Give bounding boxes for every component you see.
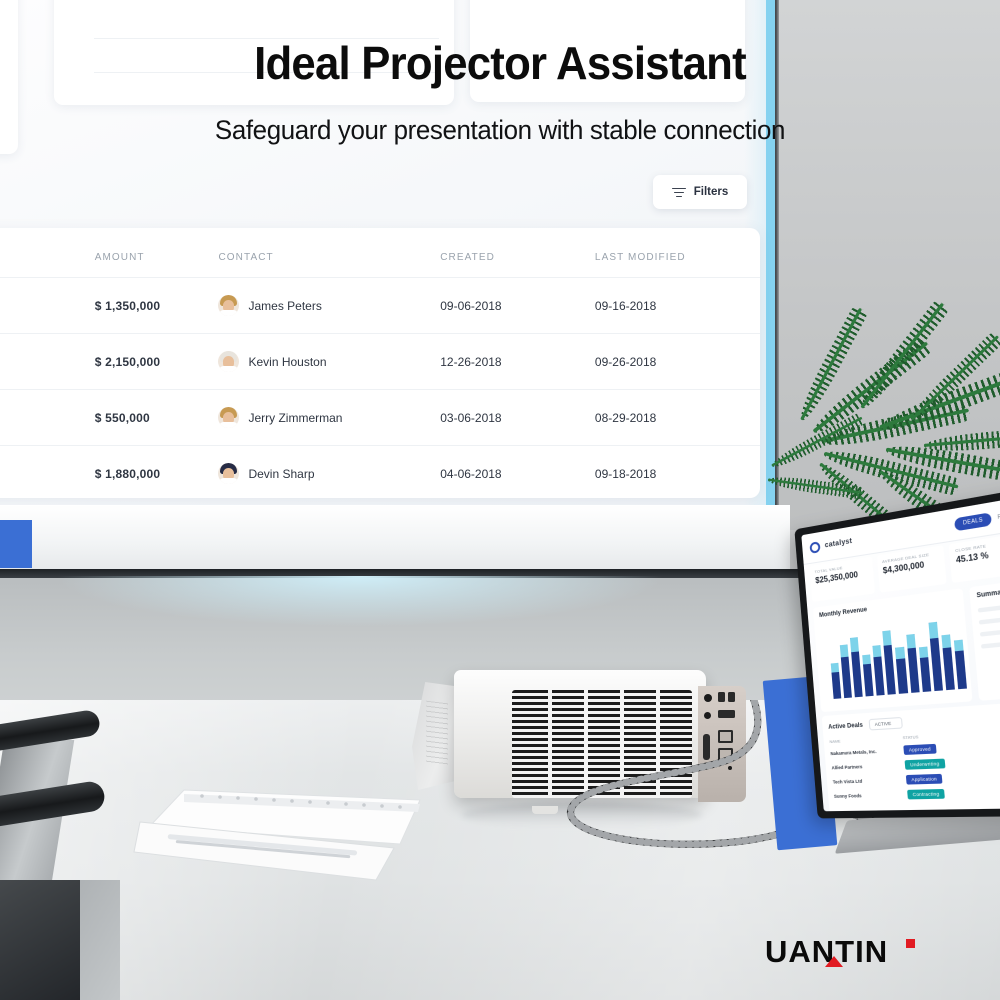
- laptop-summary-title: Summary: [976, 585, 1000, 599]
- cell-amount: $ 2,150,000: [95, 334, 219, 390]
- bar: [831, 663, 842, 699]
- filters-button-label: Filters: [694, 186, 729, 198]
- status-badge: Approved: [903, 744, 936, 755]
- cell-amount: $ 1,350,000: [95, 278, 219, 334]
- bar: [883, 630, 897, 695]
- page-title: Ideal Projector Assistant: [25, 36, 975, 90]
- cell-contact: Kevin Houston: [218, 334, 440, 390]
- avatar: [218, 295, 239, 316]
- bar: [941, 635, 955, 691]
- laptop-lid: catalyst DEALS Reports TOTAL VALUE$25,35…: [794, 487, 1000, 818]
- table-row[interactable]: A 7a$ 1,880,000Devin Sharp04-06-201809-1…: [0, 446, 760, 502]
- projector-side-vent: [426, 701, 448, 766]
- table-header-row: PE AMOUNT CONTACT CREATED LAST MODIFIED: [0, 228, 760, 278]
- projection-shelf: [0, 505, 790, 575]
- column-header-contact[interactable]: CONTACT: [218, 228, 440, 278]
- shelf-blue-accent: [0, 520, 32, 568]
- contact-name: Jerry Zimmerman: [248, 411, 342, 425]
- status-badge: Contracting: [907, 789, 945, 799]
- laptop-screen: catalyst DEALS Reports TOTAL VALUE$25,35…: [801, 496, 1000, 811]
- laptop-logo-text: catalyst: [825, 538, 853, 550]
- cell-type: A 7a: [0, 334, 95, 390]
- laptop-deals-filter-select[interactable]: ACTIVE: [868, 717, 903, 731]
- column-header-type[interactable]: PE: [0, 228, 95, 278]
- cell-created: 03-06-2018: [440, 390, 595, 446]
- bar: [850, 637, 863, 697]
- table-row[interactable]: A 7a$ 2,150,000Kevin Houston12-26-201809…: [0, 334, 760, 390]
- status-badge: Application: [906, 774, 943, 785]
- status-badge: Underwriting: [905, 759, 946, 770]
- chair-seat: [0, 880, 80, 1000]
- column-header-modified[interactable]: LAST MODIFIED: [595, 228, 760, 278]
- contact-name: James Peters: [248, 299, 321, 313]
- laptop-summary-card: Summary: [969, 577, 1000, 700]
- laptop-deals-col-status: STATUS: [902, 734, 918, 740]
- notepad-and-pen: [132, 782, 432, 892]
- cell-amount: $ 550,000: [95, 390, 219, 446]
- laptop-bar-chart: [828, 619, 967, 699]
- cell-type: A 504: [0, 390, 95, 446]
- laptop-nav-pill-deals[interactable]: DEALS: [954, 512, 993, 531]
- brand-dot-icon: [906, 939, 915, 948]
- laptop-deal-row[interactable]: Tech Vista LtdApplication4 %: [832, 770, 1000, 787]
- dashboard-card-stub: [0, 0, 18, 154]
- cell-created: 04-06-2018: [440, 446, 595, 502]
- contact-name: Kevin Houston: [248, 355, 326, 369]
- bar: [919, 646, 931, 692]
- contact-name: Devin Sharp: [248, 467, 314, 481]
- cell-modified: 09-16-2018: [595, 278, 760, 334]
- circle-logo-icon: [809, 541, 820, 554]
- laptop-deal-name: Tech Vista Ltd: [833, 777, 903, 784]
- bar: [862, 654, 873, 696]
- cell-amount: $ 1,880,000: [95, 446, 219, 502]
- avatar: [218, 351, 239, 372]
- avatar: [218, 407, 239, 428]
- cell-contact: Devin Sharp: [218, 446, 440, 502]
- brand-logo: UANTIN: [765, 934, 888, 970]
- cell-created: 09-06-2018: [440, 278, 595, 334]
- table-row[interactable]: A 7a$ 1,350,000James Peters09-06-201809-…: [0, 278, 760, 334]
- cell-contact: Jerry Zimmerman: [218, 390, 440, 446]
- table-row[interactable]: A 504$ 550,000Jerry Zimmerman03-06-20180…: [0, 390, 760, 446]
- bar: [928, 622, 943, 691]
- deals-table: PE AMOUNT CONTACT CREATED LAST MODIFIED …: [0, 228, 760, 501]
- avatar: [218, 463, 239, 484]
- brand-triangle-icon: [825, 956, 843, 967]
- product-scene: 1 M 500K JAN FEB TOTAL Filters: [0, 0, 1000, 1000]
- cell-type: A 7a: [0, 446, 95, 502]
- column-header-amount[interactable]: AMOUNT: [95, 228, 219, 278]
- laptop-deal-row[interactable]: Sunny FoodsContracting5 %: [834, 786, 1000, 801]
- laptop-kpi-card: TOTAL VALUE$25,350,000: [809, 556, 874, 601]
- bar: [954, 640, 967, 690]
- deals-table-card: PE AMOUNT CONTACT CREATED LAST MODIFIED …: [0, 228, 760, 498]
- column-header-created[interactable]: CREATED: [440, 228, 595, 278]
- laptop-chart-title: Monthly Revenue: [819, 596, 957, 620]
- bar: [906, 634, 919, 693]
- laptop-device: catalyst DEALS Reports TOTAL VALUE$25,35…: [806, 528, 1000, 858]
- filters-button[interactable]: Filters: [653, 175, 747, 209]
- bar: [895, 647, 907, 694]
- cell-modified: 09-18-2018: [595, 446, 760, 502]
- laptop-deal-name: Sunny Foods: [834, 792, 904, 799]
- bar: [873, 645, 885, 696]
- laptop-deal-name: Nakamura Metals, Inc.: [830, 748, 900, 756]
- laptop-deal-name: Allied Partners: [831, 763, 901, 771]
- funnel-icon: [672, 187, 686, 198]
- cell-modified: 08-29-2018: [595, 390, 760, 446]
- laptop-revenue-chart-card: Monthly Revenue: [813, 588, 973, 712]
- cell-contact: James Peters: [218, 278, 440, 334]
- laptop-deals-col-name: NAME: [829, 735, 903, 744]
- cell-created: 12-26-2018: [440, 334, 595, 390]
- bar: [840, 644, 852, 698]
- cell-type: A 7a: [0, 278, 95, 334]
- cell-modified: 09-26-2018: [595, 334, 760, 390]
- page-subtitle: Safeguard your presentation with stable …: [20, 115, 980, 146]
- laptop-active-deals-card: Active Deals ACTIVE NAME STATUS RATE Nak…: [822, 700, 1000, 811]
- laptop-deals-title: Active Deals: [828, 722, 863, 730]
- laptop-kpi-card: AVERAGE DEAL SIZE$4,300,000: [877, 545, 948, 593]
- projector-glow: [0, 576, 800, 656]
